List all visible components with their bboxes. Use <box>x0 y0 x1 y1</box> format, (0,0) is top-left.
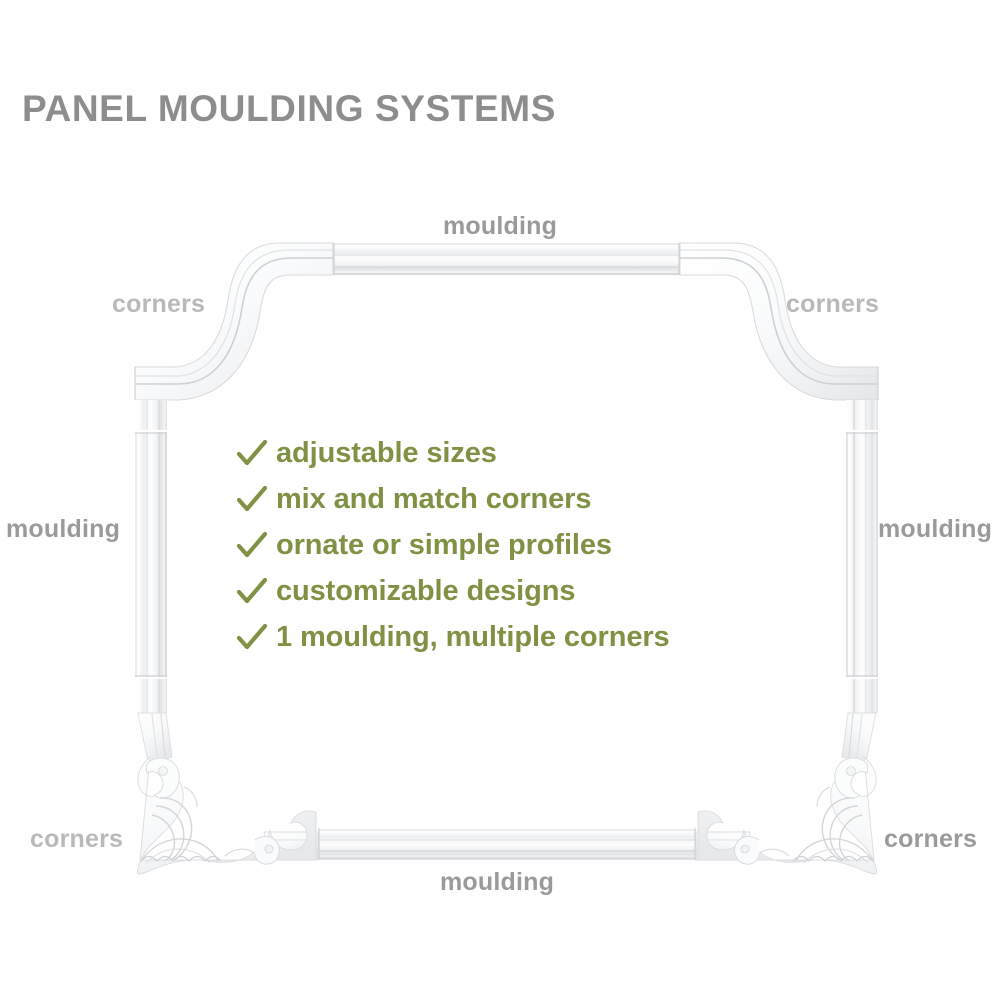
check-icon <box>236 439 268 469</box>
label-moulding-bottom: moulding <box>440 868 554 897</box>
ogee-curve-corner-top-right <box>680 243 878 400</box>
straight-moulding-left <box>135 400 167 713</box>
check-icon <box>236 623 268 653</box>
feature-list: adjustable sizesmix and match cornersorn… <box>236 430 836 660</box>
check-icon <box>236 577 268 607</box>
ornate-acanthus-corner-bottom-right <box>696 713 877 874</box>
feature-list-item: ornate or simple profiles <box>236 522 836 568</box>
feature-list-item-label: adjustable sizes <box>276 437 497 470</box>
label-moulding-left: moulding <box>6 515 120 544</box>
label-corners-top-left: corners <box>112 290 205 319</box>
ogee-curve-corner-top-left <box>135 243 333 400</box>
feature-list-item-label: customizable designs <box>276 575 575 608</box>
label-corners-bottom-left: corners <box>30 825 123 854</box>
check-icon <box>236 531 268 561</box>
label-corners-top-right: corners <box>786 290 879 319</box>
straight-moulding-right <box>846 400 878 713</box>
check-icon <box>236 485 268 515</box>
label-moulding-right: moulding <box>878 515 992 544</box>
feature-list-item: customizable designs <box>236 568 836 614</box>
label-moulding-top: moulding <box>443 212 557 241</box>
feature-list-item-label: 1 moulding, multiple corners <box>276 621 670 654</box>
feature-list-item: mix and match corners <box>236 476 836 522</box>
straight-moulding-bottom <box>318 828 696 860</box>
feature-list-item: adjustable sizes <box>236 430 836 476</box>
label-corners-bottom-right: corners <box>884 825 977 854</box>
feature-list-item: 1 moulding, multiple corners <box>236 614 836 660</box>
feature-list-item-label: mix and match corners <box>276 483 591 516</box>
ornate-acanthus-corner-bottom-left <box>137 713 318 874</box>
feature-list-item-label: ornate or simple profiles <box>276 529 612 562</box>
straight-moulding-top <box>333 243 680 275</box>
